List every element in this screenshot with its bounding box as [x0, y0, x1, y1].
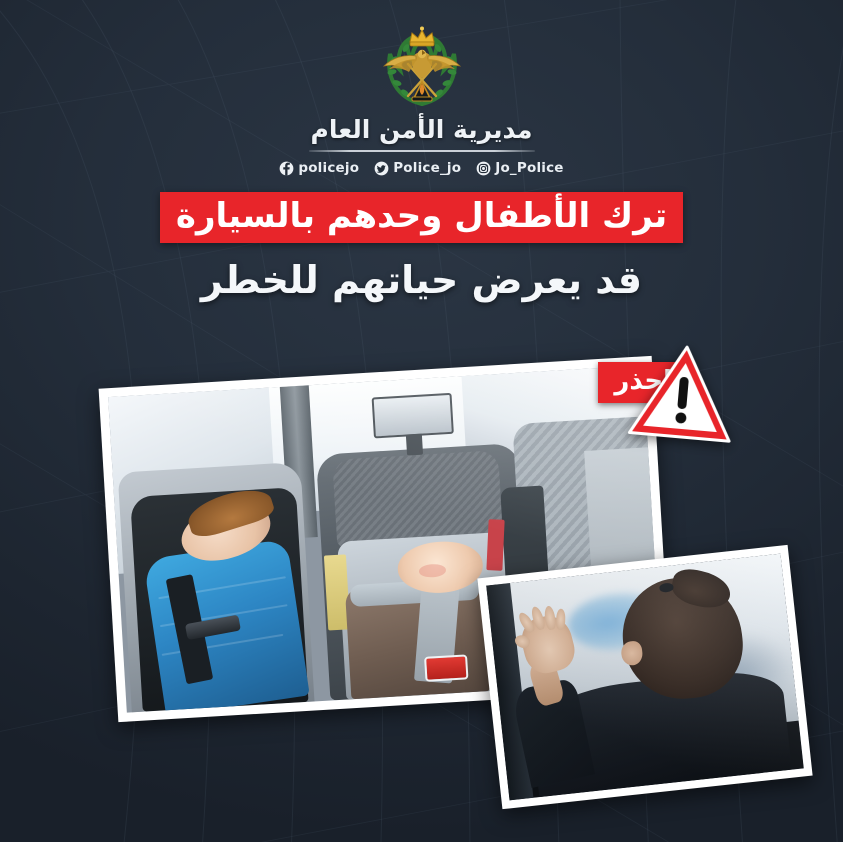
torch-flame-icon: [412, 82, 432, 101]
headline-block: ترك الأطفال وحدهم بالسيارة قد يعرض حياته…: [0, 192, 843, 304]
social-instagram[interactable]: Jo_Police: [476, 161, 563, 176]
facebook-icon: [279, 161, 294, 176]
social-twitter[interactable]: Police_jo: [374, 161, 461, 176]
warning-badge-group: إحذر: [528, 344, 760, 452]
title-underline-divider: [309, 150, 535, 152]
baby-mirror: [371, 393, 454, 439]
awareness-poster: مديرية الأمن العام policejo Police_jo: [0, 0, 843, 842]
organization-title: مديرية الأمن العام: [311, 116, 533, 145]
girl-at-window-scene: [486, 554, 804, 801]
photo-inset-canvas: [486, 554, 804, 801]
golden-eagle-icon: [384, 50, 460, 78]
royal-crown-icon: [410, 27, 434, 47]
headline-line1-highlight: ترك الأطفال وحدهم بالسيارة: [160, 192, 683, 243]
instagram-handle: Jo_Police: [495, 162, 563, 176]
headline-line2: قد يعرض حياتهم للخطر: [0, 257, 843, 303]
instagram-icon: [476, 161, 491, 176]
twitter-handle: Police_jo: [393, 162, 461, 176]
seat-belt-buckle-red: [424, 654, 468, 682]
poster-header: مديرية الأمن العام policejo Police_jo: [0, 26, 843, 176]
twitter-icon: [374, 161, 389, 176]
social-handles-row: policejo Police_jo Jo_Police: [279, 161, 563, 176]
facebook-handle: policejo: [298, 162, 359, 176]
photo-girl-hand-on-car-window: [477, 545, 812, 809]
jordan-public-security-emblem-icon: [376, 26, 468, 110]
safety-seat-red-stripe: [486, 519, 504, 570]
social-facebook[interactable]: policejo: [279, 161, 359, 176]
headline-line1-wrapper: ترك الأطفال وحدهم بالسيارة: [0, 192, 843, 243]
warning-triangle-icon: [626, 340, 740, 449]
